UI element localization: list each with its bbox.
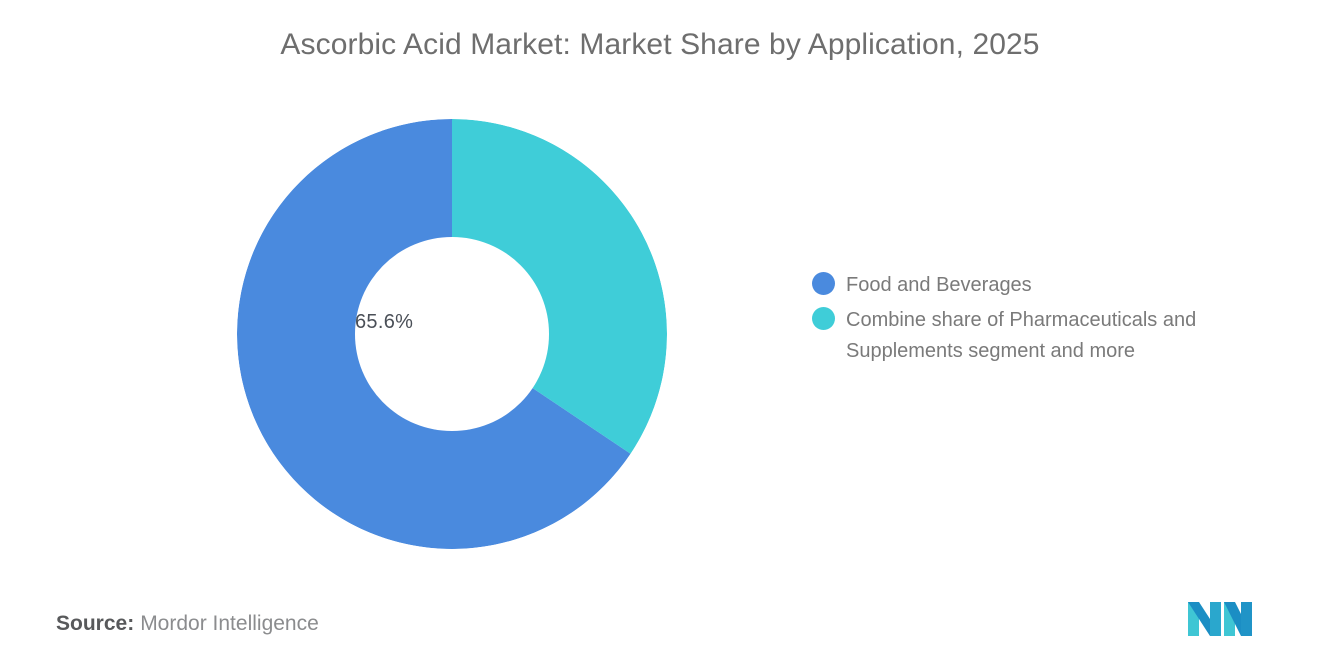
legend-label: Combine share of Pharmaceuticals and Sup… bbox=[846, 305, 1252, 367]
chart-title: Ascorbic Acid Market: Market Share by Ap… bbox=[0, 28, 1320, 62]
chart-legend: Food and Beverages Combine share of Phar… bbox=[812, 270, 1252, 371]
chart-page: Ascorbic Acid Market: Market Share by Ap… bbox=[0, 0, 1320, 665]
source-value: Mordor Intelligence bbox=[140, 612, 319, 635]
donut-chart: 65.6% bbox=[237, 119, 667, 549]
legend-item-pharmaceuticals-and-more[interactable]: Combine share of Pharmaceuticals and Sup… bbox=[812, 305, 1252, 367]
source-line: Source:Mordor Intelligence bbox=[56, 612, 319, 636]
legend-item-food-and-beverages[interactable]: Food and Beverages bbox=[812, 270, 1252, 301]
donut-center-hole bbox=[355, 237, 549, 431]
legend-swatch-icon bbox=[812, 307, 835, 330]
donut-slice-label-primary: 65.6% bbox=[355, 311, 413, 334]
legend-label: Food and Beverages bbox=[846, 270, 1032, 301]
mordor-intelligence-logo-icon bbox=[1186, 598, 1254, 638]
source-label: Source: bbox=[56, 612, 134, 635]
legend-swatch-icon bbox=[812, 272, 835, 295]
